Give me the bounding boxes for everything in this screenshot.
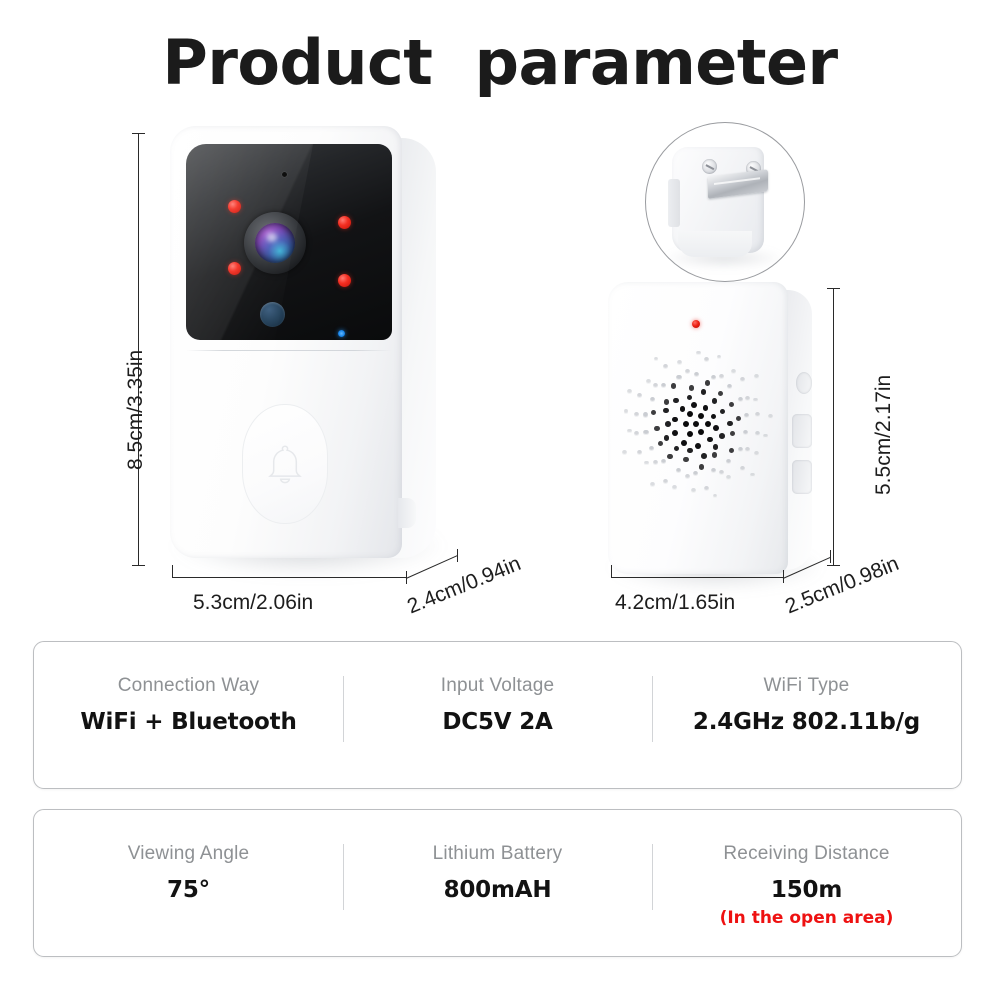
dimension-line-horizontal xyxy=(611,577,783,578)
doorbell-bell-button[interactable] xyxy=(242,404,328,524)
spec-cell-viewing-angle: Viewing Angle 75° xyxy=(34,810,343,956)
speaker-hole xyxy=(627,429,632,434)
spec-row: Viewing Angle 75° Lithium Battery 800mAH… xyxy=(34,810,961,956)
spec-cell-wifi-type: WiFi Type 2.4GHz 802.11b/g xyxy=(652,642,961,788)
speaker-hole xyxy=(726,459,731,464)
speaker-hole xyxy=(738,447,743,452)
speaker-hole xyxy=(673,398,679,404)
speaker-hole xyxy=(658,441,663,446)
speaker-hole xyxy=(713,494,718,499)
speaker-hole xyxy=(651,410,656,415)
speaker-hole xyxy=(701,453,707,459)
speaker-hole xyxy=(727,421,733,427)
speaker-hole xyxy=(683,457,688,462)
speaker-hole xyxy=(634,431,639,436)
spec-value: DC5V 2A xyxy=(442,709,552,735)
speaker-hole xyxy=(755,431,760,436)
product-parameter-infographic: Product parameter 8.5cm/3.35in 5.3cm/2.0… xyxy=(0,0,1000,1000)
speaker-hole xyxy=(729,402,734,407)
speaker-hole xyxy=(712,398,718,404)
speaker-hole xyxy=(653,383,658,388)
speaker-hole xyxy=(663,408,669,414)
spec-cell-input-voltage: Input Voltage DC5V 2A xyxy=(343,642,652,788)
infrared-led-icon xyxy=(338,274,351,287)
speaker-hole xyxy=(695,443,701,449)
speaker-hole xyxy=(646,379,651,384)
speaker-hole xyxy=(653,460,658,465)
speaker-hole xyxy=(663,364,668,369)
spec-row: Connection Way WiFi + Bluetooth Input Vo… xyxy=(34,642,961,788)
spec-label: Lithium Battery xyxy=(433,843,563,865)
doorbell-bottom-notch xyxy=(398,498,416,528)
infrared-led-icon xyxy=(228,262,241,275)
speaker-hole xyxy=(743,430,748,435)
blue-status-led-icon xyxy=(338,330,345,337)
wireless-chime-receiver xyxy=(608,282,838,582)
chime-body xyxy=(608,282,788,574)
speaker-hole xyxy=(703,405,709,411)
speaker-hole xyxy=(637,393,642,398)
speaker-hole xyxy=(650,397,655,402)
doorbell-width-label: 5.3cm/2.06in xyxy=(193,591,313,615)
spec-note: (In the open area) xyxy=(720,908,894,928)
speaker-hole xyxy=(726,475,731,480)
video-doorbell-unit xyxy=(168,124,460,564)
dimension-tick-cap xyxy=(830,550,831,563)
speaker-hole xyxy=(661,459,666,464)
infrared-led-icon xyxy=(228,200,241,213)
speaker-hole xyxy=(736,416,741,421)
doorbell-glass-faceplate xyxy=(186,144,392,340)
speaker-hole xyxy=(745,396,750,401)
speaker-hole xyxy=(727,384,732,389)
spec-value: 800mAH xyxy=(444,877,552,903)
speaker-hole xyxy=(698,413,704,419)
speaker-hole xyxy=(680,406,686,412)
speaker-hole xyxy=(744,413,749,418)
spec-label: WiFi Type xyxy=(764,675,850,697)
speaker-hole xyxy=(672,417,678,423)
speaker-hole xyxy=(687,411,693,417)
speaker-hole xyxy=(693,471,698,476)
speaker-grille xyxy=(620,344,772,504)
speaker-hole xyxy=(624,409,629,414)
speaker-hole xyxy=(676,468,681,473)
speaker-hole xyxy=(665,421,671,427)
speaker-hole xyxy=(704,486,709,491)
speaker-hole xyxy=(674,446,680,452)
spec-value: 75° xyxy=(167,877,210,903)
speaker-hole xyxy=(637,450,642,455)
speaker-hole xyxy=(720,409,726,415)
speaker-hole xyxy=(754,451,759,456)
speaker-hole xyxy=(691,402,697,408)
speaker-hole xyxy=(729,448,734,453)
speaker-hole xyxy=(705,380,710,385)
speaker-hole xyxy=(685,369,690,374)
spec-cell-connection-way: Connection Way WiFi + Bluetooth xyxy=(34,642,343,788)
screw-icon xyxy=(702,159,717,174)
spec-label: Viewing Angle xyxy=(128,843,250,865)
speaker-hole xyxy=(712,452,717,457)
speaker-hole xyxy=(671,383,676,388)
speaker-hole xyxy=(731,369,736,374)
speaker-hole xyxy=(634,412,639,417)
speaker-hole xyxy=(707,437,713,443)
speaker-hole xyxy=(698,429,704,435)
speaker-hole xyxy=(738,397,743,402)
speaker-hole xyxy=(687,431,693,437)
speaker-hole xyxy=(753,398,758,403)
speaker-hole xyxy=(711,414,717,420)
speaker-hole xyxy=(701,389,707,395)
speaker-hole xyxy=(664,435,670,441)
speaker-hole xyxy=(750,473,755,478)
chime-volume-button[interactable] xyxy=(792,414,812,448)
doorbell-height-label: 8.5cm/3.35in xyxy=(124,350,148,470)
speaker-hole xyxy=(689,385,694,390)
speaker-hole xyxy=(740,377,745,382)
speaker-hole xyxy=(730,431,735,436)
dimension-tick-cap xyxy=(827,565,840,566)
speaker-hole xyxy=(755,412,760,417)
speaker-hole xyxy=(672,430,678,436)
speaker-hole xyxy=(687,395,693,401)
doorbell-seam-line xyxy=(186,350,392,351)
speaker-hole xyxy=(704,357,709,362)
spec-label: Input Voltage xyxy=(441,675,555,697)
speaker-hole xyxy=(681,440,687,446)
chime-melody-button[interactable] xyxy=(792,460,812,494)
spec-value: 150m xyxy=(771,877,842,903)
speaker-hole xyxy=(740,466,745,471)
speaker-hole xyxy=(713,425,719,431)
chime-width-label: 4.2cm/1.65in xyxy=(615,591,735,615)
spec-cell-receiving-distance: Receiving Distance 150m (In the open are… xyxy=(652,810,961,956)
speaker-hole xyxy=(643,412,648,417)
doorbell-body xyxy=(170,126,402,558)
speaker-hole xyxy=(719,374,724,379)
spec-value: WiFi + Bluetooth xyxy=(80,709,296,735)
speaker-hole xyxy=(705,421,711,427)
speaker-hole xyxy=(699,464,704,469)
spec-card-row-2: Viewing Angle 75° Lithium Battery 800mAH… xyxy=(33,809,962,957)
speaker-hole xyxy=(627,389,632,394)
speaker-hole xyxy=(685,474,690,479)
red-indicator-led-icon xyxy=(692,320,700,328)
speaker-hole xyxy=(713,444,719,450)
dimension-line-vertical xyxy=(833,288,834,565)
speaker-hole xyxy=(711,468,716,473)
speaker-hole xyxy=(696,351,701,356)
speaker-hole xyxy=(687,448,693,454)
speaker-hole xyxy=(677,360,682,365)
camera-lens-icon xyxy=(244,212,306,274)
dimension-line-horizontal xyxy=(172,577,406,578)
bell-icon xyxy=(265,441,305,487)
speaker-hole xyxy=(667,454,672,459)
pir-sensor-icon xyxy=(260,302,285,327)
speaker-hole xyxy=(691,488,696,493)
spec-cell-lithium-battery: Lithium Battery 800mAH xyxy=(343,810,652,956)
speaker-hole xyxy=(717,355,722,360)
spec-card-row-1: Connection Way WiFi + Bluetooth Input Vo… xyxy=(33,641,962,789)
speaker-hole xyxy=(694,372,699,377)
speaker-hole xyxy=(663,479,668,484)
spec-label: Connection Way xyxy=(118,675,260,697)
page-title: Product parameter xyxy=(0,28,1000,98)
speaker-hole xyxy=(649,446,654,451)
speaker-hole xyxy=(719,433,725,439)
infrared-led-icon xyxy=(338,216,351,229)
speaker-hole xyxy=(718,391,723,396)
speaker-hole xyxy=(683,421,689,427)
speaker-hole xyxy=(622,450,627,455)
spec-value: 2.4GHz 802.11b/g xyxy=(693,709,920,735)
speaker-hole xyxy=(768,414,773,419)
speaker-hole xyxy=(643,430,648,435)
chime-side-buttons xyxy=(668,179,680,227)
speaker-hole xyxy=(676,375,681,380)
speaker-hole xyxy=(719,470,724,475)
speaker-hole xyxy=(644,461,649,466)
speaker-hole xyxy=(693,421,699,427)
speaker-hole xyxy=(711,375,716,380)
spec-label: Receiving Distance xyxy=(723,843,889,865)
speaker-hole xyxy=(661,383,666,388)
dimension-tick-cap xyxy=(132,565,145,566)
plug-detail-callout xyxy=(645,122,805,282)
camera-iris xyxy=(255,223,295,263)
speaker-hole xyxy=(650,482,655,487)
speaker-hole xyxy=(664,399,669,404)
microphone-hole-icon xyxy=(282,172,287,177)
speaker-hole xyxy=(654,357,659,362)
chime-round-button[interactable] xyxy=(796,372,812,394)
speaker-hole xyxy=(754,374,759,379)
speaker-hole xyxy=(654,426,659,431)
speaker-hole xyxy=(672,485,677,490)
speaker-hole xyxy=(763,434,768,439)
chime-height-label: 5.5cm/2.17in xyxy=(872,375,896,495)
speaker-hole xyxy=(745,447,750,452)
